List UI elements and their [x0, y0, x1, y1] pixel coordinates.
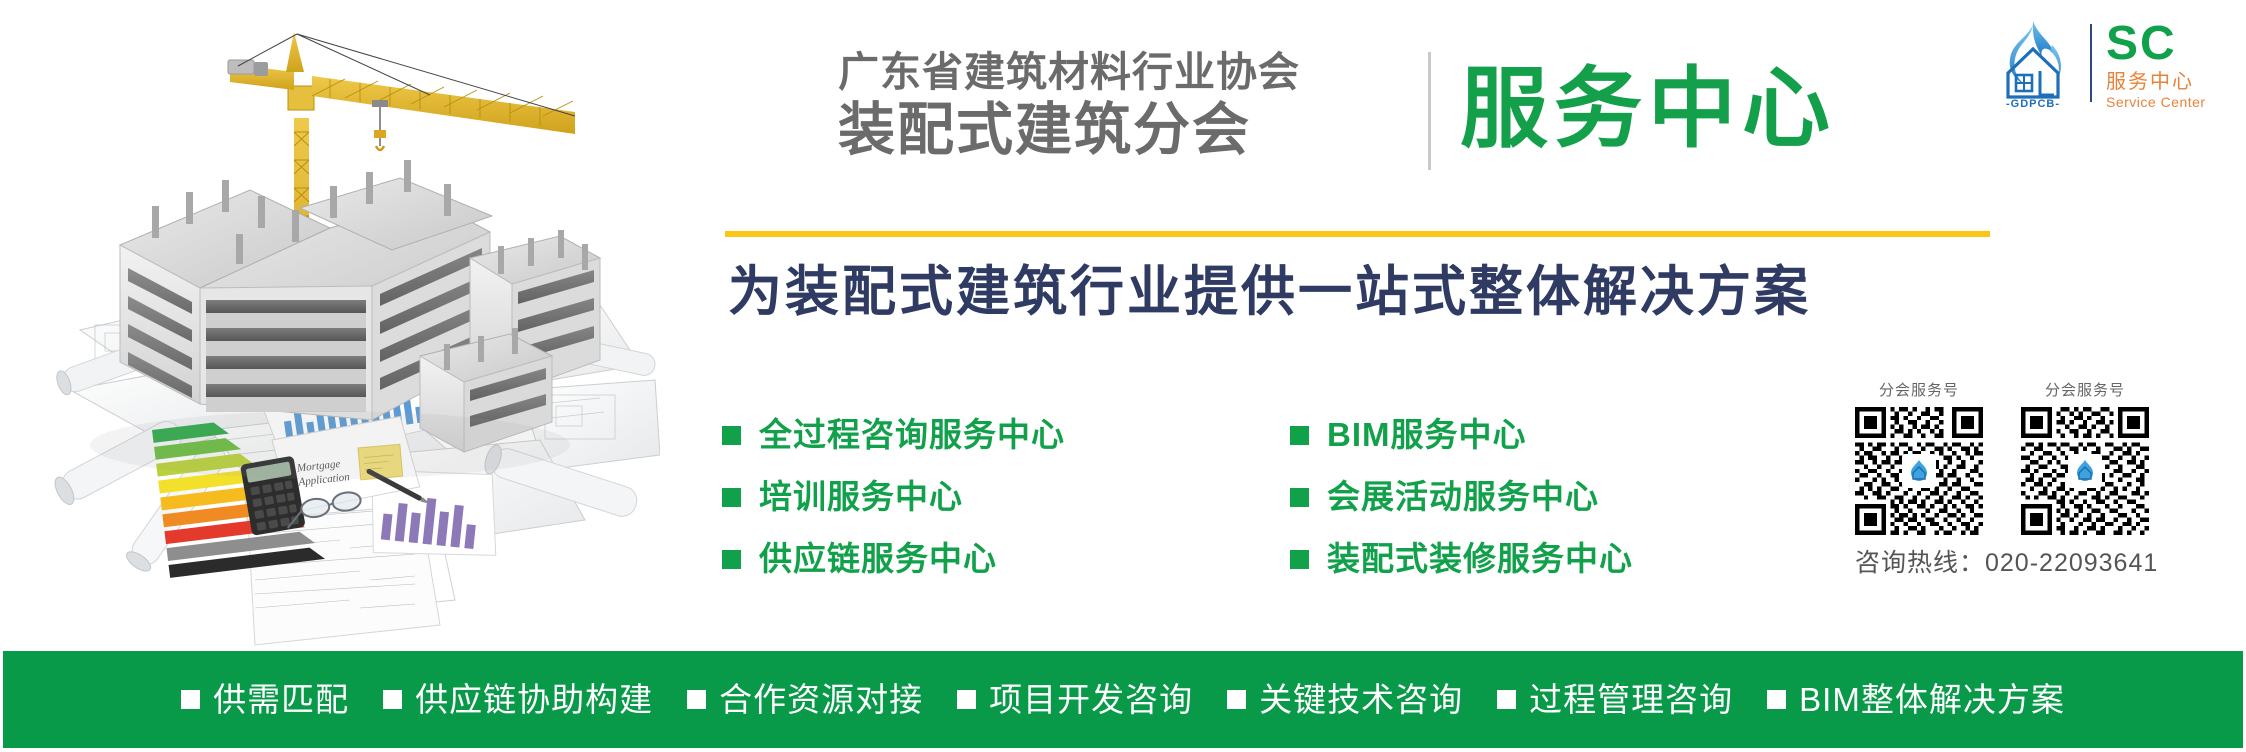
bottom-bar-label: 供需匹配 — [213, 680, 349, 720]
bottom-bar-label: 供应链协助构建 — [415, 680, 653, 720]
hotline-text: 咨询热线：020-22093641 — [1855, 547, 2195, 579]
qr-code-image-1[interactable] — [1855, 407, 1983, 535]
gdpcb-abbreviation: -GDPCB- — [1986, 98, 2080, 110]
service-item-label: 供应链服务中心 — [759, 539, 997, 579]
service-item: BIM服务中心 — [1290, 404, 1820, 466]
service-item: 供应链服务中心 — [722, 528, 1292, 590]
square-bullet-icon — [1290, 426, 1309, 445]
square-bullet-icon — [383, 690, 402, 709]
square-bullet-icon — [1290, 550, 1309, 569]
service-list-left: 全过程咨询服务中心 培训服务中心 供应链服务中心 — [722, 404, 1292, 590]
bottom-bar-item: 过程管理咨询 — [1497, 680, 1733, 720]
qr-and-hotline-block: 分会服务号 — [1855, 380, 2195, 579]
building-model — [90, 160, 600, 479]
bottom-bar-item: 供需匹配 — [181, 680, 349, 720]
sc-lockup: SC 服务中心 Service Center — [2106, 16, 2206, 111]
gdpcb-flame-house-icon: -GDPCB- — [1986, 15, 2080, 111]
square-bullet-icon — [722, 426, 741, 445]
brand-logo: -GDPCB- SC 服务中心 Service Center — [1986, 14, 2234, 112]
service-item-label: 全过程咨询服务中心 — [759, 415, 1065, 455]
bottom-bar-item: 合作资源对接 — [687, 680, 923, 720]
bottom-bar-label: BIM整体解决方案 — [1799, 680, 2065, 720]
promo-banner: Mortgage Application — [0, 0, 2246, 752]
service-item-label: 会展活动服务中心 — [1327, 477, 1599, 517]
bottom-bar-item: 项目开发咨询 — [957, 680, 1193, 720]
bottom-bar-item: 关键技术咨询 — [1227, 680, 1463, 720]
tagline: 为装配式建筑行业提供一站式整体解决方案 — [728, 256, 1811, 328]
bottom-bar-label: 项目开发咨询 — [989, 680, 1193, 720]
sc-letters: SC — [2106, 20, 2206, 68]
square-bullet-icon — [1227, 690, 1246, 709]
qr-center-logo-icon — [1902, 454, 1936, 488]
association-name-line2: 装配式建筑分会 — [838, 98, 1398, 162]
association-title-block: 广东省建筑材料行业协会 装配式建筑分会 — [838, 48, 1398, 162]
bottom-bar-label: 关键技术咨询 — [1259, 680, 1463, 720]
qr-code-caption: 分会服务号 — [2021, 380, 2149, 402]
square-bullet-icon — [181, 690, 200, 709]
logo-separator — [2090, 24, 2092, 102]
service-item: 全过程咨询服务中心 — [722, 404, 1292, 466]
service-center-heading: 服务中心 — [1460, 50, 1836, 168]
bottom-bar-item: BIM整体解决方案 — [1767, 680, 2065, 720]
yellow-divider-rule — [725, 231, 1990, 237]
square-bullet-icon — [687, 690, 706, 709]
qr-code-caption: 分会服务号 — [1855, 380, 1983, 402]
service-item: 装配式装修服务中心 — [1290, 528, 1820, 590]
sc-chinese-label: 服务中心 — [2106, 70, 2206, 94]
service-item-label: 装配式装修服务中心 — [1327, 539, 1633, 579]
square-bullet-icon — [1767, 690, 1786, 709]
square-bullet-icon — [1290, 488, 1309, 507]
qr-code-cell: 分会服务号 — [2021, 380, 2149, 535]
bottom-services-bar: 供需匹配 供应链协助构建 合作资源对接 项目开发咨询 关键技术咨询 过程管理咨询… — [3, 651, 2243, 748]
qr-code-image-2[interactable] — [2021, 407, 2149, 535]
service-item: 会展活动服务中心 — [1290, 466, 1820, 528]
service-list-right: BIM服务中心 会展活动服务中心 装配式装修服务中心 — [1290, 404, 1820, 590]
qr-code-cell: 分会服务号 — [1855, 380, 1983, 535]
service-item-label: 培训服务中心 — [759, 477, 963, 517]
association-name-line1: 广东省建筑材料行业协会 — [838, 48, 1398, 96]
square-bullet-icon — [722, 488, 741, 507]
construction-hero-image: Mortgage Application — [0, 0, 660, 650]
bottom-bar-label: 合作资源对接 — [719, 680, 923, 720]
qr-center-logo-icon — [2068, 454, 2102, 488]
qr-code-row: 分会服务号 — [1855, 380, 2195, 535]
sc-english-label: Service Center — [2106, 94, 2206, 111]
bottom-bar-item: 供应链协助构建 — [383, 680, 653, 720]
title-vertical-divider — [1428, 52, 1431, 170]
square-bullet-icon — [1497, 690, 1516, 709]
service-item-label: BIM服务中心 — [1327, 415, 1527, 455]
bottom-bar-label: 过程管理咨询 — [1529, 680, 1733, 720]
square-bullet-icon — [957, 690, 976, 709]
service-item: 培训服务中心 — [722, 466, 1292, 528]
square-bullet-icon — [722, 550, 741, 569]
